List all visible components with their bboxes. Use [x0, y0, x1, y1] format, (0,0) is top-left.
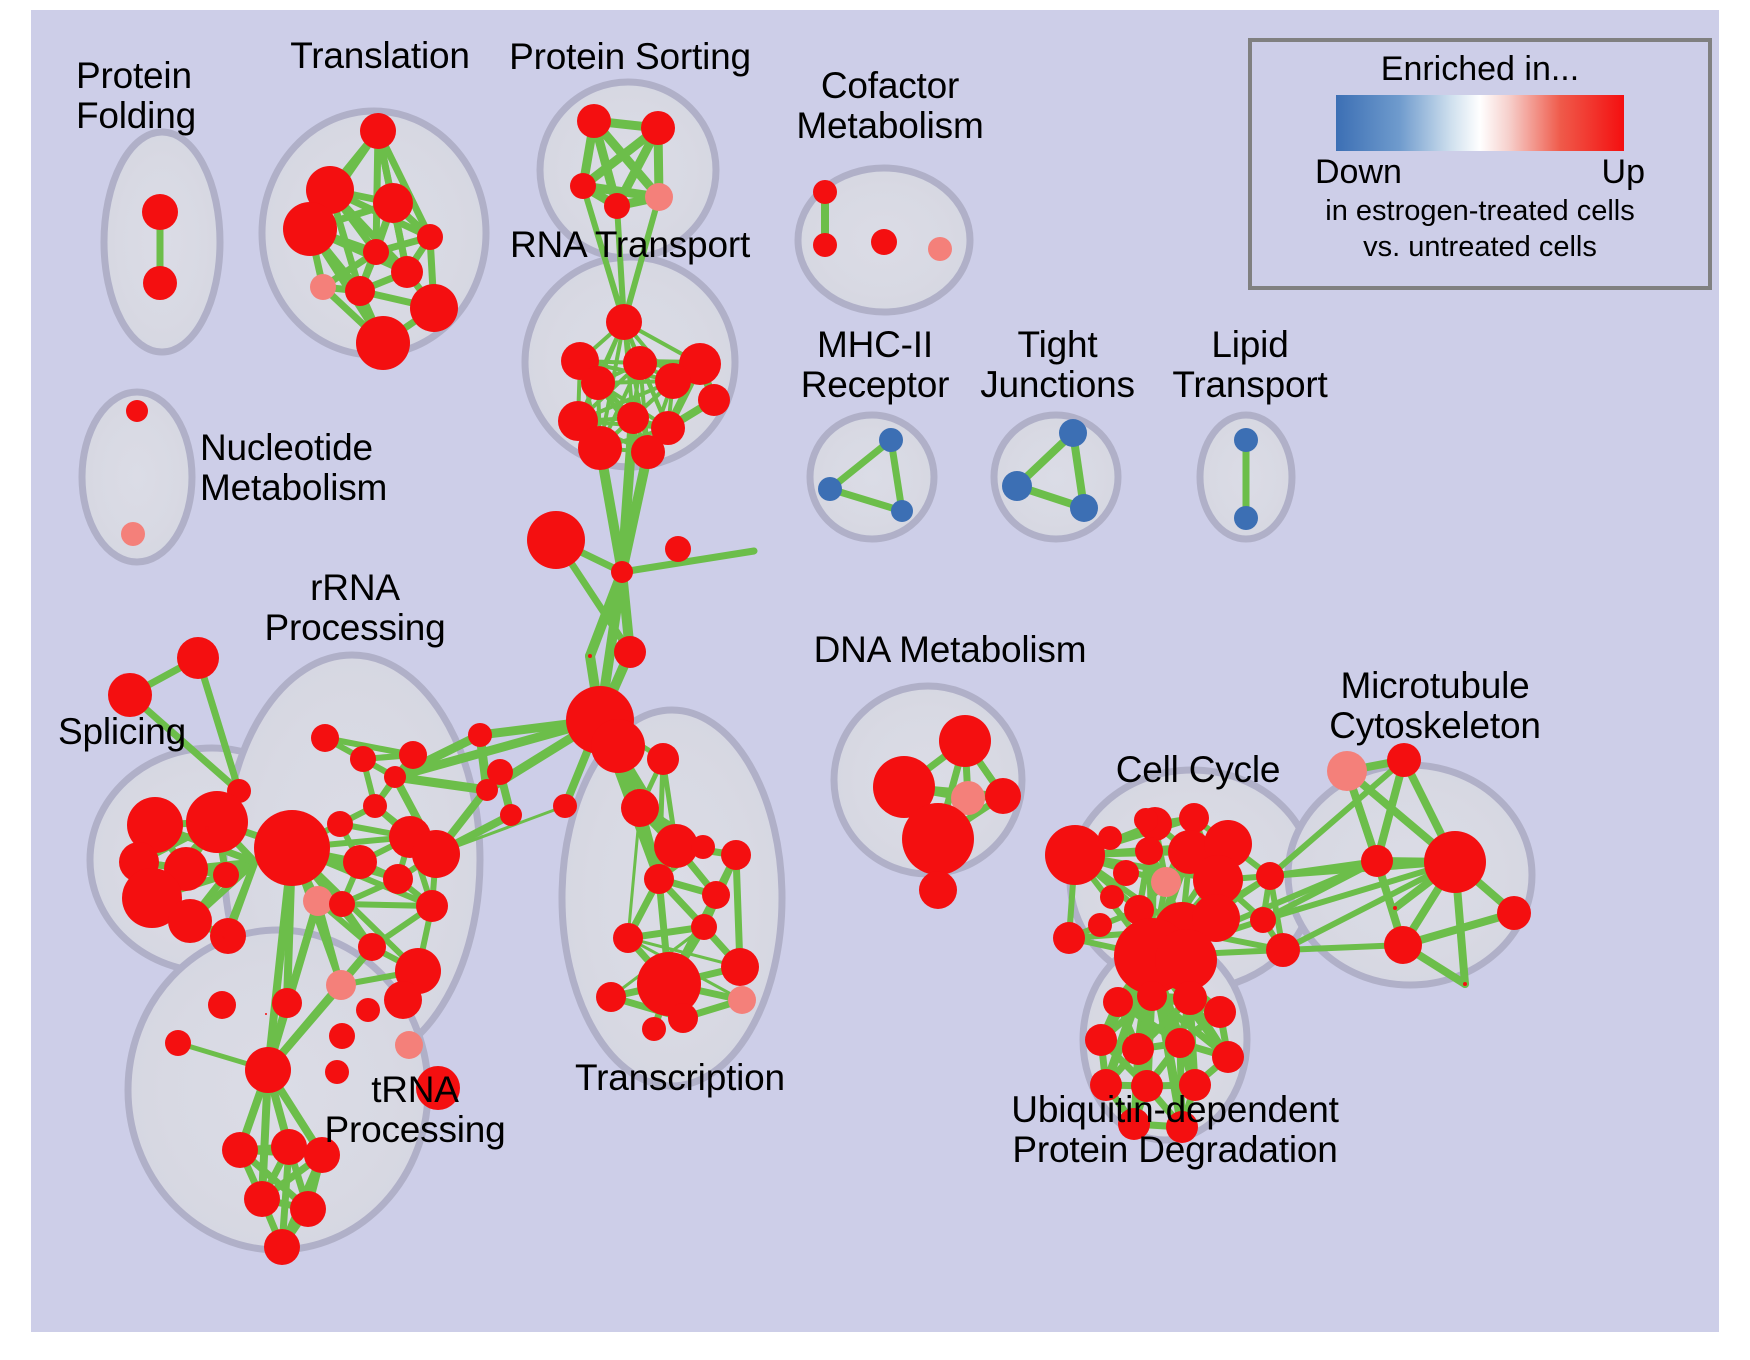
- node[interactable]: [345, 276, 375, 306]
- node[interactable]: [939, 715, 991, 767]
- node[interactable]: [329, 1023, 355, 1049]
- node[interactable]: [553, 794, 577, 818]
- node[interactable]: [290, 1191, 326, 1227]
- node[interactable]: [329, 891, 355, 917]
- node[interactable]: [665, 536, 691, 562]
- cluster-label-cell-cycle: Cell Cycle: [1098, 750, 1298, 790]
- cluster-label-cofactor-metabolism: Cofactor Metabolism: [790, 66, 990, 146]
- node[interactable]: [1151, 867, 1181, 897]
- node[interactable]: [417, 224, 443, 250]
- cluster-label-lipid-transport: Lipid Transport: [1160, 325, 1340, 405]
- node[interactable]: [1327, 751, 1367, 791]
- node[interactable]: [581, 366, 615, 400]
- node[interactable]: [1070, 494, 1098, 522]
- node[interactable]: [919, 871, 957, 909]
- node[interactable]: [1463, 982, 1467, 986]
- node[interactable]: [143, 266, 177, 300]
- node[interactable]: [358, 933, 386, 961]
- node[interactable]: [1384, 926, 1422, 964]
- node[interactable]: [1387, 743, 1421, 777]
- node[interactable]: [391, 256, 423, 288]
- cluster-label-rna-transport: RNA Transport: [505, 225, 755, 265]
- node[interactable]: [611, 561, 633, 583]
- node[interactable]: [1266, 933, 1300, 967]
- node[interactable]: [311, 724, 339, 752]
- node[interactable]: [327, 811, 353, 837]
- cluster-label-translation: Translation: [290, 36, 470, 76]
- node[interactable]: [343, 845, 377, 879]
- node[interactable]: [213, 862, 239, 888]
- node[interactable]: [871, 229, 897, 255]
- node[interactable]: [621, 789, 659, 827]
- node[interactable]: [208, 991, 236, 1019]
- node[interactable]: [1424, 831, 1486, 893]
- cluster-label-nucleotide-metabolism: Nucleotide Metabolism: [200, 428, 460, 508]
- node[interactable]: [326, 970, 356, 1000]
- node[interactable]: [691, 914, 717, 940]
- node[interactable]: [205, 826, 209, 830]
- node[interactable]: [126, 400, 148, 422]
- cluster-label-rrna-processing: rRNA Processing: [250, 568, 460, 648]
- node[interactable]: [1053, 922, 1085, 954]
- node[interactable]: [606, 304, 642, 340]
- node[interactable]: [728, 986, 756, 1014]
- node[interactable]: [1134, 808, 1158, 832]
- node[interactable]: [813, 180, 837, 204]
- node[interactable]: [604, 193, 630, 219]
- node[interactable]: [244, 1181, 280, 1217]
- node[interactable]: [384, 981, 422, 1019]
- node[interactable]: [1393, 906, 1397, 910]
- legend-title: Enriched in...: [1252, 50, 1708, 89]
- node[interactable]: [283, 202, 337, 256]
- node[interactable]: [500, 804, 522, 826]
- cluster-label-protein-sorting: Protein Sorting: [500, 37, 760, 77]
- node[interactable]: [1137, 981, 1167, 1011]
- node[interactable]: [373, 183, 413, 223]
- legend-endpoints: Down Up: [1315, 153, 1645, 192]
- node[interactable]: [1088, 913, 1112, 937]
- node[interactable]: [655, 363, 691, 399]
- node[interactable]: [1100, 885, 1124, 909]
- legend-panel: Enriched in... Down Up in estrogen-treat…: [1248, 38, 1712, 290]
- node[interactable]: [1212, 1041, 1244, 1073]
- node[interactable]: [210, 918, 246, 954]
- cluster-label-microtubule-cytoskeleton: Microtubule Cytoskeleton: [1300, 666, 1570, 746]
- node[interactable]: [383, 864, 413, 894]
- node[interactable]: [356, 998, 380, 1022]
- node[interactable]: [527, 511, 585, 569]
- node[interactable]: [1002, 471, 1032, 501]
- cluster-label-splicing: Splicing: [58, 712, 218, 752]
- node[interactable]: [813, 233, 837, 257]
- node[interactable]: [985, 778, 1021, 814]
- node[interactable]: [265, 1013, 267, 1015]
- node[interactable]: [310, 274, 336, 300]
- node[interactable]: [642, 1017, 666, 1041]
- node[interactable]: [668, 1003, 698, 1033]
- node[interactable]: [356, 316, 410, 370]
- legend-color-bar: [1336, 95, 1624, 151]
- node[interactable]: [617, 402, 649, 434]
- cluster-label-mhc-ii-receptor: MHC-II Receptor: [790, 325, 960, 405]
- node[interactable]: [245, 1047, 291, 1093]
- node[interactable]: [928, 237, 952, 261]
- node[interactable]: [1234, 506, 1258, 530]
- node[interactable]: [721, 840, 751, 870]
- node[interactable]: [702, 881, 730, 909]
- node[interactable]: [168, 899, 212, 943]
- node[interactable]: [360, 113, 396, 149]
- node[interactable]: [142, 194, 178, 230]
- node[interactable]: [577, 104, 611, 138]
- cluster-label-protein-folding: Protein Folding: [76, 56, 246, 136]
- node[interactable]: [1085, 1024, 1117, 1056]
- node[interactable]: [177, 637, 219, 679]
- node[interactable]: [350, 746, 376, 772]
- node[interactable]: [165, 1030, 191, 1056]
- node[interactable]: [623, 346, 657, 380]
- cluster-label-transcription: Transcription: [565, 1058, 795, 1098]
- node[interactable]: [476, 779, 498, 801]
- node[interactable]: [254, 810, 330, 886]
- node[interactable]: [578, 426, 622, 470]
- node[interactable]: [570, 173, 596, 199]
- node[interactable]: [596, 982, 626, 1012]
- cluster-label-trna-processing: tRNA Processing: [300, 1070, 530, 1150]
- node[interactable]: [588, 654, 592, 658]
- node[interactable]: [902, 803, 974, 875]
- node[interactable]: [1173, 981, 1207, 1015]
- node[interactable]: [1179, 803, 1209, 833]
- node[interactable]: [1204, 996, 1236, 1028]
- node[interactable]: [879, 428, 903, 452]
- legend-subtitle-line-1: in estrogen-treated cells: [1252, 196, 1708, 228]
- node[interactable]: [698, 384, 730, 416]
- node[interactable]: [818, 477, 842, 501]
- node[interactable]: [647, 743, 679, 775]
- node[interactable]: [264, 1229, 300, 1265]
- node[interactable]: [363, 794, 387, 818]
- node[interactable]: [1256, 862, 1284, 890]
- node[interactable]: [399, 741, 427, 769]
- node[interactable]: [891, 500, 913, 522]
- node[interactable]: [1497, 896, 1531, 930]
- node[interactable]: [363, 239, 389, 265]
- node[interactable]: [1135, 837, 1163, 865]
- node[interactable]: [645, 183, 673, 211]
- node[interactable]: [410, 284, 458, 332]
- node[interactable]: [1361, 845, 1393, 877]
- node[interactable]: [1045, 825, 1105, 885]
- cluster-label-tight-junctions: Tight Junctions: [970, 325, 1145, 405]
- node[interactable]: [222, 1132, 258, 1168]
- node[interactable]: [1098, 826, 1122, 850]
- cluster-label-dna-metabolism: DNA Metabolism: [805, 630, 1095, 670]
- node[interactable]: [1122, 1033, 1154, 1065]
- node[interactable]: [412, 830, 460, 878]
- node[interactable]: [416, 890, 448, 922]
- node[interactable]: [395, 1031, 423, 1059]
- node[interactable]: [641, 111, 675, 145]
- node[interactable]: [1059, 419, 1087, 447]
- node[interactable]: [1165, 1028, 1195, 1058]
- cluster-hull-mhc-ii-receptor: [810, 415, 934, 539]
- legend-subtitle-line-2: vs. untreated cells: [1252, 232, 1708, 264]
- node[interactable]: [1103, 987, 1133, 1017]
- cluster-label-ubiquitin-protein-degradation: Ubiquitin-dependent Protein Degradation: [985, 1090, 1365, 1170]
- node[interactable]: [691, 835, 715, 859]
- node[interactable]: [186, 791, 248, 853]
- node[interactable]: [591, 719, 645, 773]
- legend-high-label: Up: [1602, 153, 1645, 192]
- node[interactable]: [614, 636, 646, 668]
- enrichment-map-figure: Protein Folding Translation Nucleotide M…: [0, 0, 1750, 1360]
- node[interactable]: [721, 948, 759, 986]
- node[interactable]: [1250, 907, 1276, 933]
- node[interactable]: [222, 936, 224, 938]
- node[interactable]: [644, 864, 674, 894]
- node[interactable]: [1113, 860, 1139, 886]
- node[interactable]: [613, 923, 643, 953]
- node[interactable]: [631, 435, 665, 469]
- node[interactable]: [384, 766, 406, 788]
- legend-low-label: Down: [1315, 153, 1402, 192]
- node[interactable]: [272, 988, 302, 1018]
- node[interactable]: [468, 723, 492, 747]
- node[interactable]: [121, 522, 145, 546]
- node[interactable]: [1234, 428, 1258, 452]
- node[interactable]: [303, 886, 333, 916]
